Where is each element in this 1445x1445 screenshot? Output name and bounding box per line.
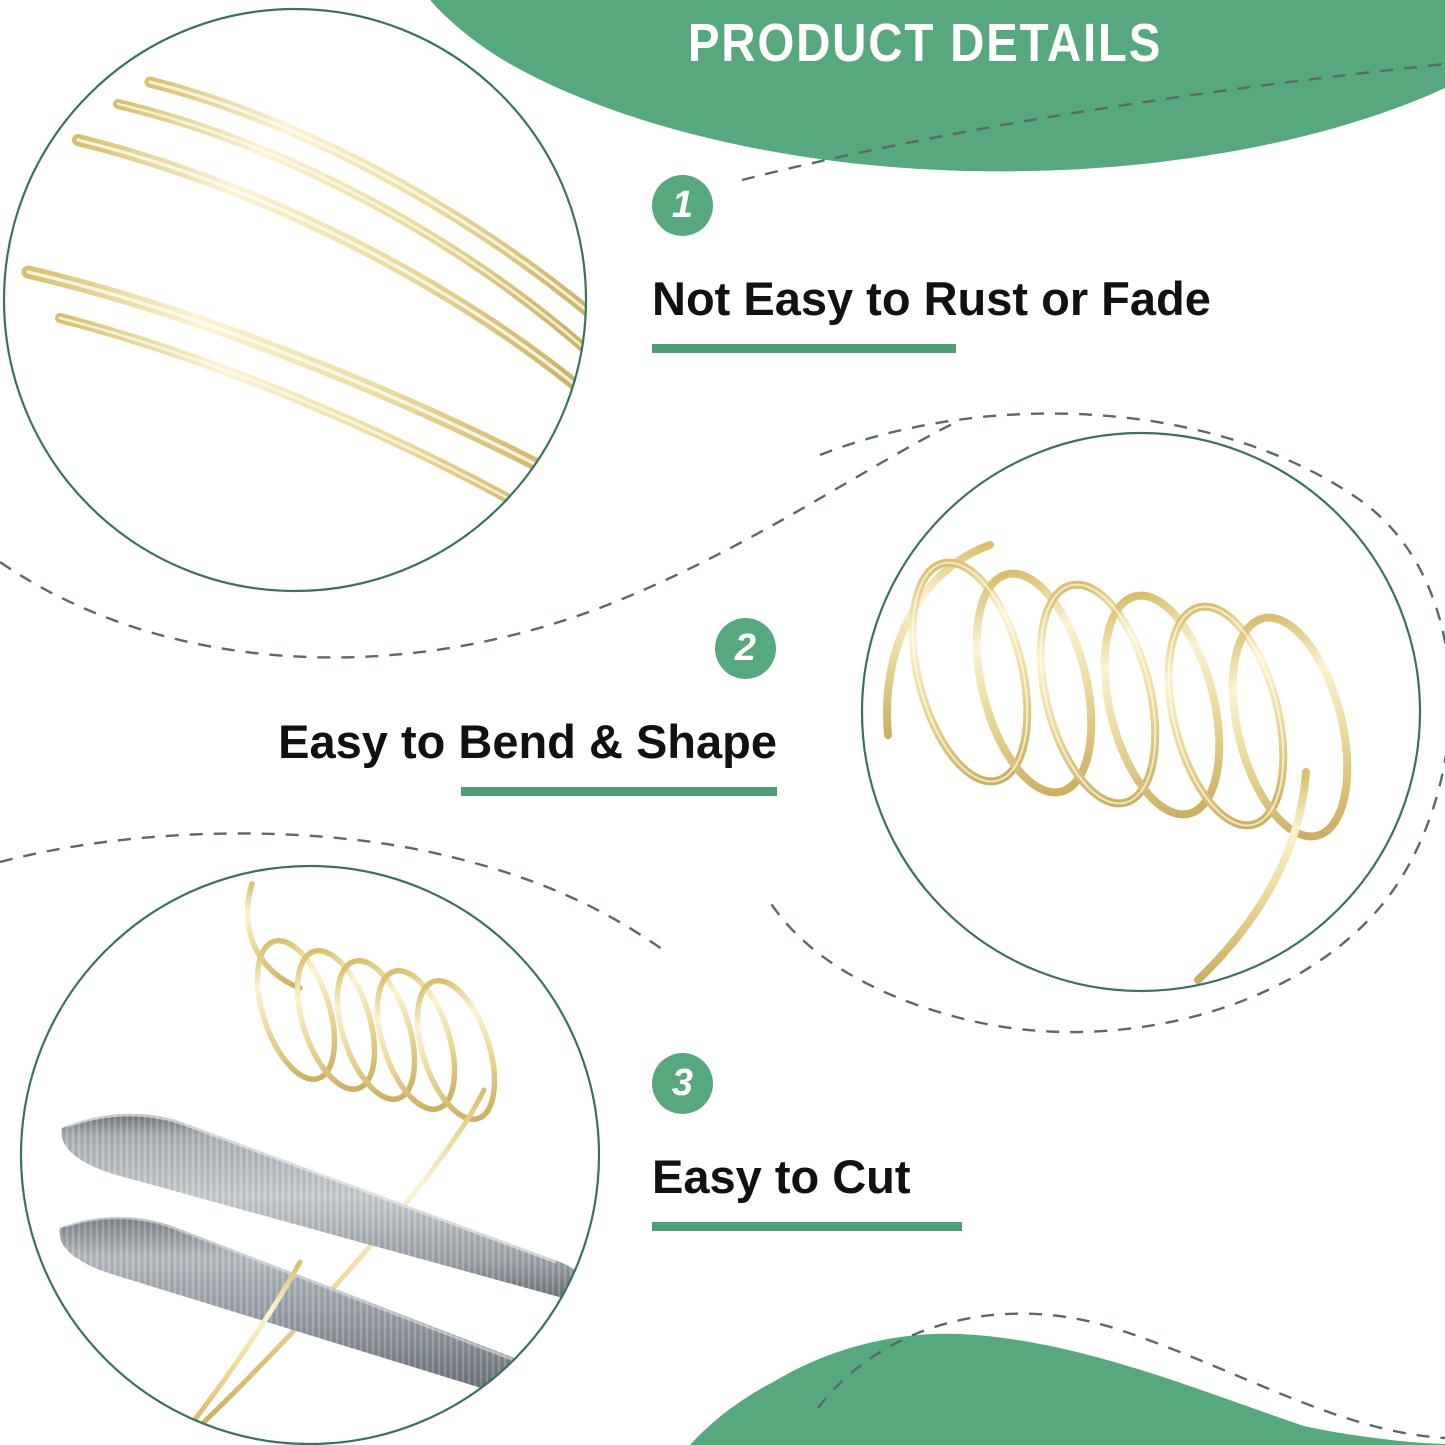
feature-3-number-badge: 3: [652, 1053, 713, 1114]
feature-1-underline: [652, 344, 956, 353]
feature-3-title: Easy to Cut: [652, 1153, 962, 1200]
feature-2-number-badge: 2: [715, 618, 776, 679]
feature-2-underline: [461, 787, 777, 796]
feature-block-3: 3 Easy to Cut: [652, 1053, 962, 1231]
feature-2-title: Easy to Bend & Shape: [247, 718, 777, 765]
feature-3-underline: [652, 1222, 962, 1231]
page-title: PRODUCT DETAILS: [573, 6, 1277, 80]
feature-block-2: 2 Easy to Bend & Shape: [247, 618, 777, 796]
feature-1-title: Not Easy to Rust or Fade: [652, 275, 1211, 322]
feature-block-1: 1 Not Easy to Rust or Fade: [652, 175, 1211, 353]
photo-gold-wire-strands: [0, 0, 610, 600]
feature-1-number-badge: 1: [652, 175, 713, 236]
product-details-infographic: PRODUCT DETAILS 1 Not Easy to Rust or Fa…: [0, 0, 1445, 1445]
